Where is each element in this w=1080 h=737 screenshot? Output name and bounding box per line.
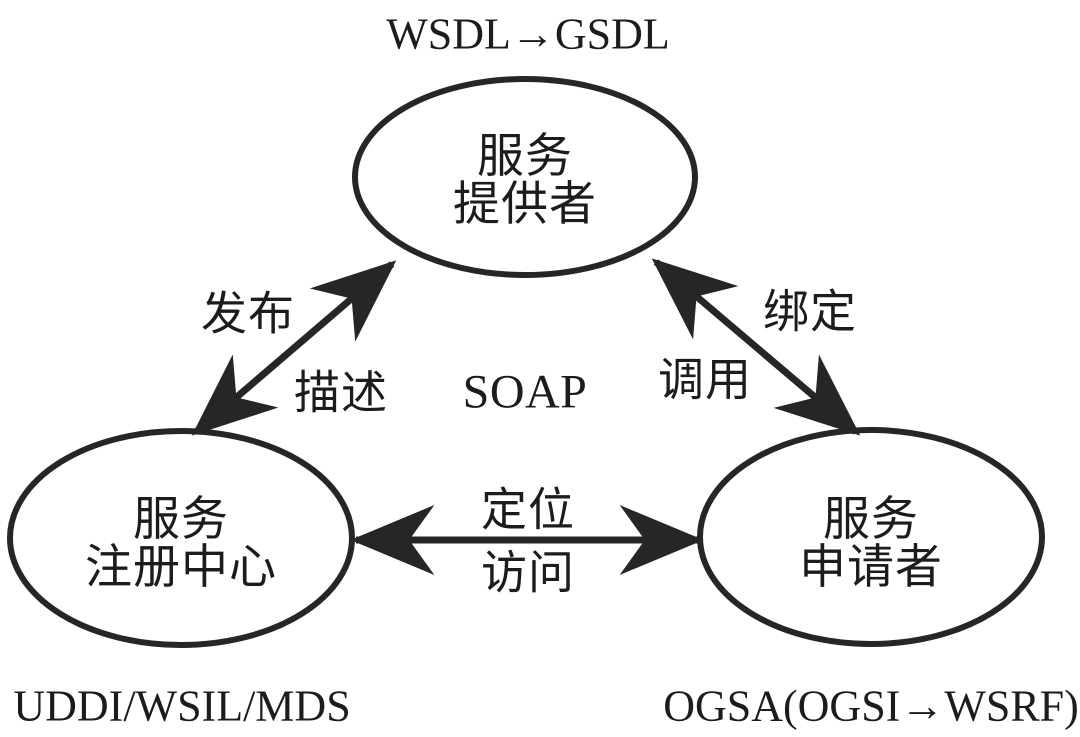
annotation-bottom-left-uddi: UDDI/WSIL/MDS [13, 685, 350, 730]
edge-label-access: 访问 [481, 551, 575, 598]
edge-label-locate: 定位 [481, 488, 575, 535]
node-label-line-1: 服务 [799, 497, 943, 545]
node-label-line-2: 注册中心 [85, 545, 277, 593]
edge-label-describe: 描述 [294, 371, 388, 418]
node-label-line-2: 申请者 [799, 545, 943, 593]
node-label-line-1: 服务 [453, 134, 597, 182]
center-protocol-label: SOAP [463, 369, 588, 418]
diagram-canvas: 服务 提供者 服务 注册中心 服务 申请者 发布 描述 绑定 调用 定位 访问 … [0, 0, 1080, 737]
node-label-service-provider: 服务 提供者 [453, 134, 597, 230]
annotation-top-wsdl-gsdl: WSDL→GSDL [386, 13, 670, 58]
node-label-service-requester: 服务 申请者 [799, 497, 943, 593]
edge-label-invoke: 调用 [658, 358, 752, 405]
edge-label-bind: 绑定 [763, 290, 857, 337]
node-label-service-registry: 服务 注册中心 [85, 497, 277, 593]
annotation-bottom-right-ogsa: OGSA(OGSI→WSRF) [663, 685, 1079, 730]
node-label-line-2: 提供者 [453, 182, 597, 230]
edge-label-publish: 发布 [201, 292, 295, 339]
node-label-line-1: 服务 [85, 497, 277, 545]
